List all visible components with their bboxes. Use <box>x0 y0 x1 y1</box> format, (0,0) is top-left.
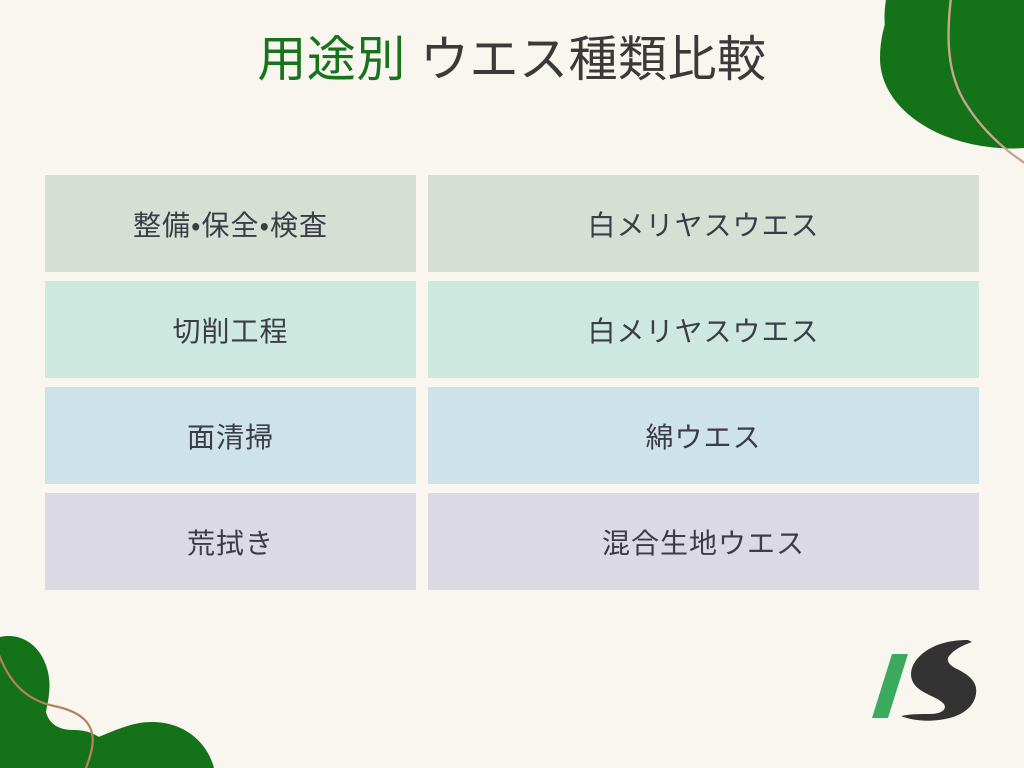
table-cell-kind: 混合生地ウエス <box>428 493 979 590</box>
is-logo <box>864 632 986 724</box>
table-row: 切削工程 白メリヤスウエス <box>45 281 979 378</box>
table-row: 荒拭き 混合生地ウエス <box>45 493 979 590</box>
page-title-accent: 用途別 <box>257 33 406 87</box>
table-row: 整備・保全・検査 白メリヤスウエス <box>45 175 979 272</box>
logo-s-mark-icon <box>901 640 976 721</box>
table-cell-use: 荒拭き <box>45 493 416 590</box>
bottom-left-green-blob-core <box>0 640 116 768</box>
page-title-rest: ウエス種類比較 <box>406 33 767 87</box>
table-row: 面清掃 綿ウエス <box>45 387 979 484</box>
bottom-left-green-blob <box>0 636 214 768</box>
page-title: 用途別 ウエス種類比較 <box>0 32 1024 88</box>
comparison-table: 整備・保全・検査 白メリヤスウエス 切削工程 白メリヤスウエス 面清掃 綿ウエス… <box>45 175 979 590</box>
table-cell-use: 整備・保全・検査 <box>45 175 416 272</box>
table-cell-kind: 白メリヤスウエス <box>428 175 979 272</box>
table-cell-kind: 白メリヤスウエス <box>428 281 979 378</box>
table-cell-kind: 綿ウエス <box>428 387 979 484</box>
table-cell-use: 面清掃 <box>45 387 416 484</box>
slide-root: 用途別 ウエス種類比較 整備・保全・検査 白メリヤスウエス 切削工程 白メリヤス… <box>0 0 1024 768</box>
bottom-left-tan-curve <box>0 640 93 768</box>
logo-green-bar-icon <box>872 654 908 718</box>
table-cell-use: 切削工程 <box>45 281 416 378</box>
